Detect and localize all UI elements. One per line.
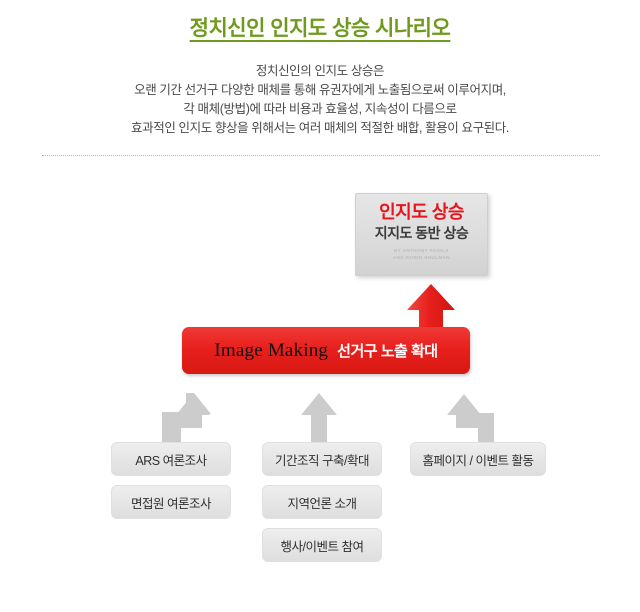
tactic-column-2: 기간조직 구축/확대 지역언론 소개 행사/이벤트 참여 (262, 442, 382, 571)
image-making-banner: Image Making 선거구 노출 확대 (182, 327, 470, 374)
banner-korean-label: 선거구 노출 확대 (337, 340, 437, 361)
tactic-box[interactable]: 행사/이벤트 참여 (262, 528, 382, 562)
goal-sub-label: 지지도 동반 상승 (356, 223, 487, 243)
tactic-box[interactable]: ARS 여론조사 (111, 442, 231, 476)
goal-credit: BY ANTHONY FAIOLA AND ROBIN SHULMAN (356, 248, 487, 261)
infographic-page: 정치신인 인지도 상승 시나리오 정치신인의 인지도 상승은 오랜 기간 선거구… (0, 0, 640, 612)
bent-left-arrow-up-icon (445, 392, 497, 444)
tactic-box[interactable]: 기간조직 구축/확대 (262, 442, 382, 476)
diagram-canvas: 인지도 상승 지지도 동반 상승 BY ANTHONY FAIOLA AND R… (0, 0, 640, 612)
bent-right-arrow-up-icon (160, 392, 212, 444)
tactic-column-1: ARS 여론조사 면접원 여론조사 (111, 442, 231, 528)
tactic-box[interactable]: 면접원 여론조사 (111, 485, 231, 519)
tactic-box[interactable]: 지역언론 소개 (262, 485, 382, 519)
tactic-box[interactable]: 홈페이지 / 이벤트 활동 (410, 442, 546, 476)
goal-main-label: 인지도 상승 (356, 201, 487, 223)
red-up-arrow-icon (405, 283, 457, 333)
goal-credit-line-2: AND ROBIN SHULMAN (356, 255, 487, 262)
goal-box: 인지도 상승 지지도 동반 상승 BY ANTHONY FAIOLA AND R… (355, 193, 488, 276)
banner-english-label: Image Making (214, 340, 328, 362)
straight-arrow-up-icon (300, 392, 338, 444)
tactic-column-3: 홈페이지 / 이벤트 활동 (410, 442, 546, 485)
